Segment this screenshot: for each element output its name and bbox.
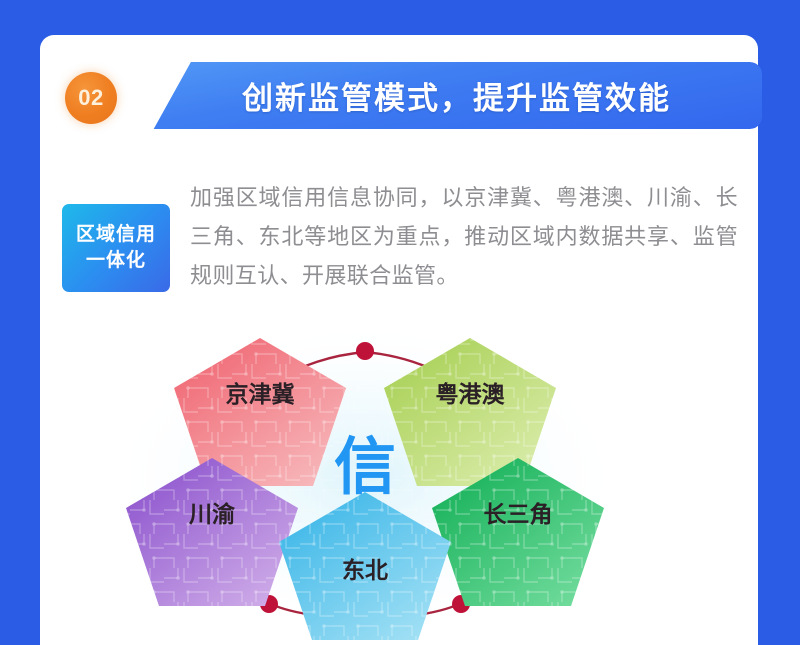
- topic-tag-line-1: 区域信用: [76, 222, 156, 248]
- body-paragraph: 加强区域信用信息协同，以京津冀、粤港澳、川渝、长三角、东北等地区为重点，推动区域…: [190, 178, 738, 295]
- region-label-dongbei: 东北: [342, 557, 388, 583]
- topic-tag: 区域信用 一体化: [62, 204, 170, 292]
- region-label-yuegangao: 粤港澳: [436, 381, 506, 407]
- region-label-jingjinji: 京津冀: [226, 381, 295, 407]
- section-number-badge: 02: [65, 72, 117, 124]
- content-row: 区域信用 一体化 加强区域信用信息协同，以京津冀、粤港澳、川渝、长三角、东北等地…: [62, 178, 740, 295]
- topic-tag-line-2: 一体化: [86, 248, 146, 274]
- region-label-chuanyu: 川渝: [189, 501, 235, 527]
- section-header-band: 创新监管模式，提升监管效能: [40, 62, 762, 129]
- region-pentagon-diagram: 京津冀 粤港澳 川渝 长三角 东北 信: [62, 330, 752, 642]
- center-character: 信: [334, 433, 396, 502]
- page-title: 创新监管模式，提升监管效能: [242, 62, 746, 129]
- region-label-changsanjiao: 长三角: [484, 501, 553, 527]
